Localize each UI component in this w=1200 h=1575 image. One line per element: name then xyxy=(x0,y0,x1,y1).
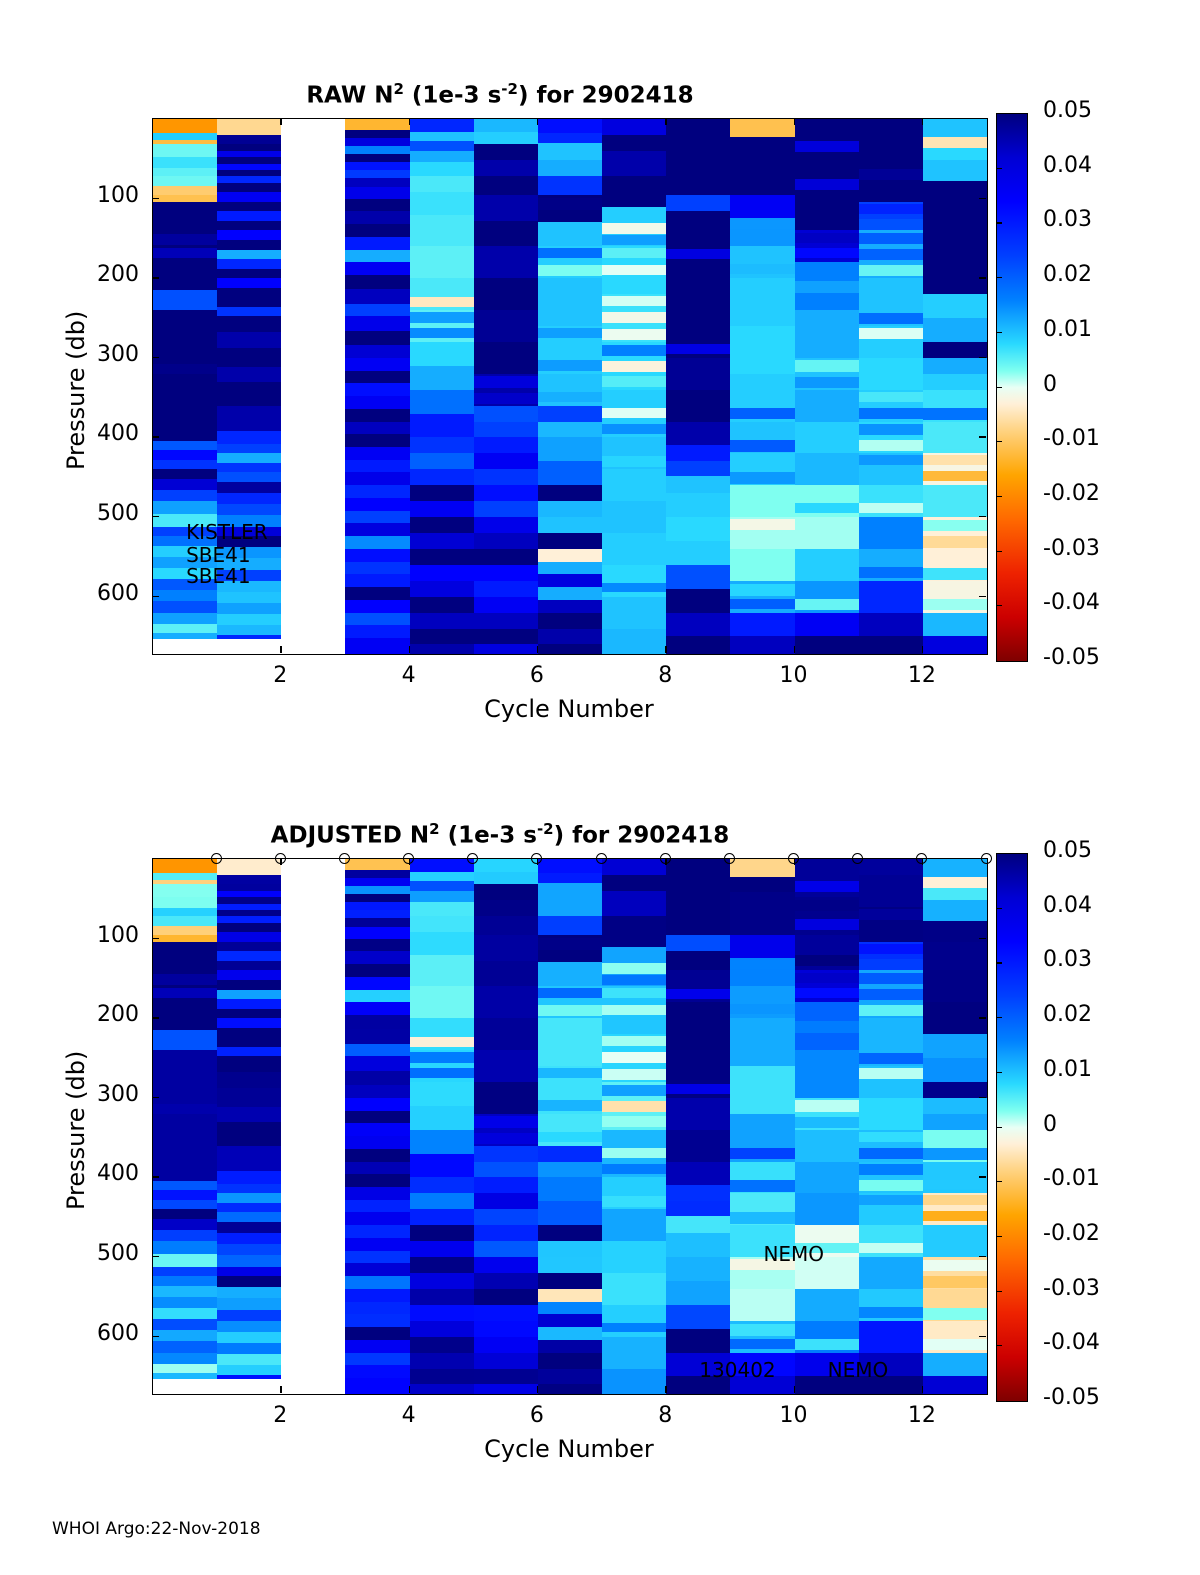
heatmap-band xyxy=(602,424,666,434)
heatmap-cell xyxy=(666,445,730,461)
heatmap-cell xyxy=(345,1123,409,1136)
heatmap-cell xyxy=(345,549,409,562)
heatmap-cell xyxy=(795,613,859,637)
heatmap-cell xyxy=(538,1314,602,1327)
heatmap-cell xyxy=(410,859,474,872)
heatmap-band xyxy=(410,312,474,322)
heatmap-cell xyxy=(410,141,474,151)
colorbar-tick-mark xyxy=(996,441,1002,442)
heatmap-band xyxy=(859,219,923,230)
heatmap-cell xyxy=(666,1201,730,1215)
colorbar-tick-label: 0.04 xyxy=(1043,893,1092,918)
heatmap-cell xyxy=(410,955,474,987)
heatmap-cell xyxy=(153,1319,217,1330)
heatmap-cell xyxy=(666,589,730,613)
x-tick-mark xyxy=(922,646,923,653)
heatmap-cell xyxy=(795,1130,859,1162)
heatmap-cell xyxy=(538,1384,602,1394)
heatmap-cell xyxy=(538,859,602,873)
heatmap-cell xyxy=(345,1212,409,1225)
heatmap-cell xyxy=(410,1193,474,1209)
heatmap-cell xyxy=(217,382,281,406)
x-tick-mark xyxy=(794,118,795,125)
heatmap-cell xyxy=(474,613,538,629)
colorbar-tick-label: 0.03 xyxy=(1043,207,1092,232)
heatmap-band xyxy=(795,1100,859,1111)
heatmap-cell xyxy=(217,635,281,639)
heatmap-band xyxy=(602,1148,666,1158)
heatmap-column xyxy=(602,119,666,654)
heatmap-cell xyxy=(410,1384,474,1394)
heatmap-cell xyxy=(602,119,666,135)
heatmap-cell xyxy=(217,1122,281,1146)
heatmap-cell xyxy=(345,1340,409,1353)
heatmap-band xyxy=(859,989,923,1000)
heatmap-band xyxy=(538,198,602,210)
heatmap-band xyxy=(730,1004,794,1014)
cycle-marker-icon[interactable] xyxy=(467,853,478,864)
heatmap-cell xyxy=(730,1018,794,1066)
heatmap-cell xyxy=(795,1353,859,1377)
heatmap-cell xyxy=(538,549,602,562)
heatmap-axes-adjusted xyxy=(152,858,988,1395)
heatmap-cell xyxy=(345,902,409,910)
y-tick-mark xyxy=(152,1176,159,1177)
heatmap-band xyxy=(602,1036,666,1046)
colorbar-tick-label: -0.03 xyxy=(1043,1276,1100,1301)
heatmap-cell xyxy=(345,211,409,224)
heatmap-cell xyxy=(345,1029,409,1043)
plot-title-exponent-s2: -2 xyxy=(501,80,518,98)
heatmap-column xyxy=(153,119,217,654)
heatmap-cell xyxy=(217,547,281,558)
cycle-marker-icon[interactable] xyxy=(596,853,607,864)
heatmap-cell xyxy=(666,517,730,541)
heatmap-column xyxy=(345,119,409,654)
heatmap-cell xyxy=(217,980,281,990)
heatmap-cell xyxy=(345,304,409,317)
x-tick-mark xyxy=(537,646,538,653)
x-tick-label: 2 xyxy=(250,1403,310,1428)
heatmap-cell xyxy=(730,1353,794,1377)
heatmap-cell xyxy=(474,1353,538,1369)
heatmap-cell xyxy=(345,1085,409,1098)
heatmap-cell xyxy=(474,1337,538,1353)
cycle-marker-icon[interactable] xyxy=(852,853,863,864)
colorbar-tick-label: -0.04 xyxy=(1043,1330,1100,1355)
colorbar-tick-mark xyxy=(996,1127,1002,1128)
y-tick-label: 300 xyxy=(47,1082,139,1107)
heatmap-band xyxy=(859,1195,923,1205)
y-tick-label: 600 xyxy=(47,581,139,606)
heatmap-cell xyxy=(538,600,602,613)
heatmap-cell xyxy=(217,240,281,250)
heatmap-cell xyxy=(730,636,794,654)
cycle-marker-icon[interactable] xyxy=(916,853,927,864)
colorbar-tick-label: 0.02 xyxy=(1043,1002,1092,1027)
heatmap-cell xyxy=(666,141,730,170)
heatmap-cell xyxy=(923,1082,987,1098)
heatmap-cell xyxy=(345,1225,409,1238)
colorbar-tick-label: 0.01 xyxy=(1043,1057,1092,1082)
heatmap-band xyxy=(666,989,730,999)
heatmap-cell xyxy=(538,1018,602,1066)
heatmap-band xyxy=(730,1324,794,1336)
heatmap-cell xyxy=(345,878,409,886)
plot-title-text: ADJUSTED N xyxy=(271,823,429,849)
heatmap-cell xyxy=(153,1241,217,1254)
heatmap-cell xyxy=(217,493,281,504)
heatmap-cell xyxy=(859,1257,923,1289)
heatmap-cell xyxy=(474,1384,538,1394)
heatmap-cell xyxy=(474,1146,538,1162)
y-tick-mark xyxy=(979,357,986,358)
heatmap-cell xyxy=(923,1114,987,1130)
heatmap-cell xyxy=(474,221,538,246)
heatmap-cell xyxy=(217,1233,281,1244)
heatmap-cell xyxy=(217,1047,281,1057)
heatmap-band xyxy=(859,249,923,260)
heatmap-cell xyxy=(410,1241,474,1257)
heatmap-cell xyxy=(474,1273,538,1289)
heatmap-cell xyxy=(538,1146,602,1162)
heatmap-cell xyxy=(538,1289,602,1302)
heatmap-cell xyxy=(730,549,794,581)
heatmap-cell xyxy=(345,1111,409,1124)
heatmap-cell xyxy=(217,472,281,482)
cycle-marker-icon[interactable] xyxy=(660,853,671,864)
heatmap-band xyxy=(923,1260,987,1271)
heatmap-band xyxy=(795,179,859,190)
heatmap-cell xyxy=(538,587,602,600)
cycle-marker-icon[interactable] xyxy=(275,853,286,864)
heatmap-band xyxy=(538,392,602,402)
colorbar-tick-mark xyxy=(996,1181,1002,1182)
heatmap-cell xyxy=(538,422,602,438)
x-tick-mark xyxy=(794,1386,795,1393)
heatmap-cell xyxy=(153,501,217,514)
heatmap-cell xyxy=(795,517,859,549)
y-tick-label: 400 xyxy=(47,1161,139,1186)
heatmap-cell xyxy=(217,999,281,1009)
heatmap-column xyxy=(730,119,794,654)
heatmap-cell xyxy=(153,916,217,926)
heatmap-cell xyxy=(859,1353,923,1377)
heatmap-cell xyxy=(923,137,987,148)
heatmap-cell xyxy=(730,137,794,153)
cycle-marker-icon[interactable] xyxy=(403,853,414,864)
colorbar-tick-label: 0 xyxy=(1043,1112,1057,1137)
heatmap-cell xyxy=(859,859,923,875)
x-axis-label: Cycle Number xyxy=(369,695,769,723)
heatmap-cell xyxy=(538,900,602,916)
heatmap-cell xyxy=(474,144,538,160)
y-tick-label: 600 xyxy=(47,1321,139,1346)
heatmap-band xyxy=(602,975,666,985)
heatmap-cell xyxy=(345,910,409,918)
heatmap-cell xyxy=(474,195,538,220)
colorbar-tick-mark xyxy=(996,222,1002,223)
heatmap-cell xyxy=(217,625,281,635)
heatmap-cell xyxy=(217,1310,281,1321)
heatmap-cell xyxy=(345,859,409,870)
heatmap-band xyxy=(923,1180,987,1190)
heatmap-cell xyxy=(217,515,281,526)
heatmap-cell xyxy=(730,326,794,374)
heatmap-cell xyxy=(345,927,409,938)
heatmap-cell xyxy=(795,422,859,454)
heatmap-cell xyxy=(538,160,602,176)
heatmap-cell xyxy=(410,549,474,565)
heatmap-cell xyxy=(410,1369,474,1385)
heatmap-cell xyxy=(538,962,602,986)
heatmap-cell xyxy=(859,119,923,135)
heatmap-band xyxy=(538,988,602,998)
heatmap-cell xyxy=(410,390,474,414)
heatmap-cell xyxy=(153,514,217,527)
heatmap-cell xyxy=(474,1177,538,1193)
heatmap-column xyxy=(217,119,281,654)
heatmap-cell xyxy=(217,463,281,473)
heatmap-band xyxy=(859,313,923,324)
heatmap-cell xyxy=(666,1233,730,1257)
heatmap-cell xyxy=(410,533,474,549)
heatmap-band xyxy=(730,519,794,529)
heatmap-cell xyxy=(153,450,217,460)
x-tick-mark xyxy=(537,1386,538,1393)
heatmap-cell xyxy=(474,176,538,195)
heatmap-band xyxy=(859,233,923,244)
heatmap-cell xyxy=(730,485,794,517)
heatmap-band xyxy=(474,376,538,387)
y-tick-label: 400 xyxy=(47,421,139,446)
heatmap-cell xyxy=(538,437,602,461)
heatmap-band xyxy=(730,960,794,969)
colorbar-tick-label: 0.05 xyxy=(1043,98,1092,123)
heatmap-cell xyxy=(217,570,281,581)
heatmap-cell xyxy=(153,633,217,639)
heatmap-band xyxy=(859,567,923,578)
heatmap-cell xyxy=(345,447,409,460)
heatmap-cell xyxy=(345,1289,409,1302)
heatmap-column xyxy=(795,859,859,1394)
heatmap-cell xyxy=(602,1337,666,1369)
plot-title-subject: ) for 2902418 xyxy=(554,823,730,849)
heatmap-cell xyxy=(153,1181,217,1191)
heatmap-cell xyxy=(474,900,538,916)
heatmap-cell xyxy=(217,1056,281,1072)
plot-title-exponent-n2: 2 xyxy=(393,80,403,98)
x-tick-label: 6 xyxy=(507,1403,567,1428)
heatmap-cell xyxy=(345,600,409,613)
heatmap-band xyxy=(795,919,859,930)
heatmap-band xyxy=(795,1243,859,1253)
x-tick-label: 10 xyxy=(764,663,824,688)
heatmap-cell xyxy=(410,517,474,533)
y-tick-mark xyxy=(152,596,159,597)
y-tick-mark xyxy=(979,198,986,199)
heatmap-cell xyxy=(474,119,538,132)
heatmap-cell xyxy=(410,1305,474,1321)
y-axis-label: Pressure (db) xyxy=(62,1051,90,1210)
heatmap-cell xyxy=(666,1002,730,1050)
heatmap-column xyxy=(153,859,217,1394)
heatmap-cell xyxy=(153,441,217,451)
heatmap-band xyxy=(730,472,794,484)
heatmap-band xyxy=(859,1132,923,1142)
heatmap-cell xyxy=(345,146,409,154)
heatmap-cell xyxy=(666,262,730,310)
heatmap-cell xyxy=(217,1332,281,1343)
heatmap-cell xyxy=(153,479,217,490)
heatmap-band xyxy=(602,583,666,593)
heatmap-cell xyxy=(153,1373,217,1379)
heatmap-band xyxy=(602,456,666,467)
cycle-marker-icon[interactable] xyxy=(724,853,735,864)
heatmap-band xyxy=(602,345,666,357)
cycle-marker-icon[interactable] xyxy=(788,853,799,864)
heatmap-cell xyxy=(795,310,859,358)
figure-footer: WHOI Argo:22-Nov-2018 xyxy=(52,1519,261,1539)
heatmap-cell xyxy=(217,183,281,193)
heatmap-column xyxy=(859,859,923,1394)
heatmap-band xyxy=(795,248,859,258)
x-tick-label: 8 xyxy=(635,663,695,688)
heatmap-cell xyxy=(602,597,666,629)
heatmap-band xyxy=(859,503,923,513)
heatmap-cell xyxy=(217,592,281,603)
heatmap-cell xyxy=(345,316,409,330)
heatmap-band xyxy=(795,281,859,293)
heatmap-cell xyxy=(153,1308,217,1319)
heatmap-cell xyxy=(345,1174,409,1187)
cycle-marker-icon[interactable] xyxy=(981,853,992,864)
heatmap-band xyxy=(730,1259,794,1269)
heatmap-cell xyxy=(153,290,217,310)
heatmap-cell xyxy=(538,644,602,654)
heatmap-cell xyxy=(345,162,409,170)
x-tick-label: 4 xyxy=(379,1403,439,1428)
cycle-marker-icon[interactable] xyxy=(531,853,542,864)
heatmap-cell xyxy=(474,1193,538,1209)
heatmap-cell xyxy=(730,877,794,893)
heatmap-cell xyxy=(538,133,602,143)
heatmap-cell xyxy=(345,1353,409,1366)
heatmap-band xyxy=(602,1164,666,1174)
heatmap-cell xyxy=(538,873,602,883)
heatmap-band xyxy=(602,1085,666,1097)
heatmap-column xyxy=(538,859,602,1394)
heatmap-cell xyxy=(538,485,602,501)
heatmap-cell xyxy=(666,1162,730,1186)
heatmap-cell xyxy=(345,485,409,498)
heatmap-cell xyxy=(217,288,281,307)
plot-title-subject: ) for 2902418 xyxy=(518,83,694,109)
heatmap-cell xyxy=(666,1329,730,1353)
heatmap-band xyxy=(923,1276,987,1288)
heatmap-cell xyxy=(217,192,281,202)
heatmap-band xyxy=(859,328,923,339)
heatmap-cell xyxy=(410,881,474,891)
heatmap-cell xyxy=(474,501,538,517)
heatmap-cell xyxy=(153,579,217,590)
heatmap-cell xyxy=(923,1034,987,1058)
heatmap-band xyxy=(859,440,923,451)
plot-title: RAW N2 (1e-3 s-2) for 2902418 xyxy=(0,80,1000,109)
heatmap-cell xyxy=(923,119,987,137)
heatmap-cell xyxy=(923,230,987,262)
heatmap-cell xyxy=(666,461,730,475)
y-tick-mark xyxy=(152,357,159,358)
heatmap-cell xyxy=(410,644,474,654)
heatmap-cell xyxy=(410,1177,474,1193)
heatmap-band xyxy=(795,1021,859,1033)
heatmap-band xyxy=(923,520,987,531)
heatmap-cell xyxy=(474,1162,538,1178)
heatmap-band xyxy=(859,204,923,214)
colorbar-tick-mark xyxy=(996,605,1002,606)
heatmap-cell xyxy=(474,549,538,565)
heatmap-cell xyxy=(666,1353,730,1377)
x-tick-mark xyxy=(665,118,666,125)
heatmap-cell xyxy=(345,199,409,212)
heatmap-band xyxy=(923,471,987,481)
heatmap-band xyxy=(410,297,474,308)
heatmap-band xyxy=(859,265,923,276)
heatmap-cell xyxy=(217,1298,281,1309)
heatmap-band xyxy=(602,296,666,306)
y-tick-mark xyxy=(152,436,159,437)
heatmap-band xyxy=(795,973,859,983)
heatmap-cell xyxy=(666,195,730,211)
heatmap-cell xyxy=(602,1273,666,1305)
heatmap-cell xyxy=(410,414,474,438)
heatmap-cell xyxy=(602,1241,666,1273)
heatmap-cell xyxy=(538,119,602,133)
cycle-marker-icon[interactable] xyxy=(339,853,350,864)
heatmap-cell xyxy=(410,613,474,629)
heatmap-cell xyxy=(474,581,538,597)
heatmap-cell xyxy=(345,1149,409,1162)
heatmap-cell xyxy=(345,977,409,990)
heatmap-band xyxy=(923,440,987,450)
heatmap-cell xyxy=(538,1225,602,1241)
heatmap-cell xyxy=(217,1193,281,1203)
heatmap-band xyxy=(153,974,217,985)
colorbar-tick-label: 0.02 xyxy=(1043,262,1092,287)
heatmap-band xyxy=(923,1339,987,1350)
heatmap-cell xyxy=(345,951,409,964)
heatmap-cell xyxy=(217,1222,281,1233)
heatmap-cell xyxy=(217,1107,281,1121)
heatmap-cell xyxy=(217,1203,281,1213)
heatmap-cell xyxy=(345,1251,409,1264)
heatmap-cell xyxy=(345,237,409,250)
heatmap-cell xyxy=(217,1267,281,1277)
heatmap-cell xyxy=(217,259,281,269)
y-tick-mark xyxy=(152,1336,159,1337)
heatmap-band xyxy=(859,424,923,435)
heatmap-cell xyxy=(795,1257,859,1289)
heatmap-band xyxy=(602,265,666,275)
heatmap-cell xyxy=(345,460,409,473)
heatmap-cell xyxy=(345,964,409,977)
colorbar-tick-mark xyxy=(996,1291,1002,1292)
heatmap-cell xyxy=(345,262,409,275)
y-tick-mark xyxy=(979,938,986,939)
cycle-marker-icon[interactable] xyxy=(211,853,222,864)
heatmap-cell xyxy=(666,1130,730,1162)
